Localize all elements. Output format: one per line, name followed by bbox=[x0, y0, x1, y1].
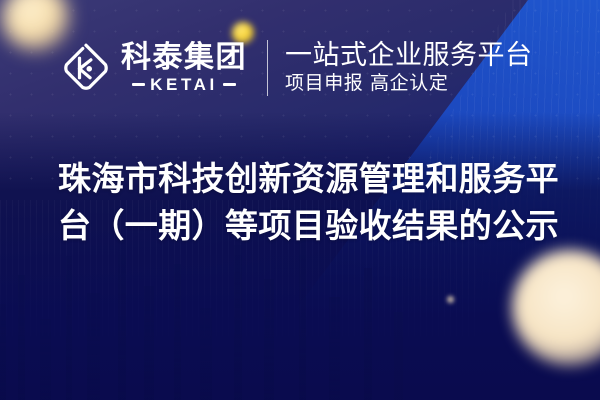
promo-banner: 科泰集团 KETAI 一站式企业服务平台 项目申报 高企认定 珠海市科技创新资源… bbox=[0, 0, 600, 400]
small-glow-dot bbox=[447, 296, 454, 303]
tagline-main: 一站式企业服务平台 bbox=[285, 42, 533, 70]
tagline-block: 一站式企业服务平台 项目申报 高企认定 bbox=[285, 42, 533, 94]
brand-logo[interactable]: 科泰集团 KETAI bbox=[60, 42, 247, 94]
logo-dash-right-icon bbox=[223, 83, 236, 86]
header-divider bbox=[267, 40, 268, 96]
logo-wordmark: 科泰集团 KETAI bbox=[121, 43, 247, 93]
tagline-sub: 项目申报 高企认定 bbox=[285, 73, 533, 94]
page-title: 珠海市科技创新资源管理和服务平台（一期）等项目验收结果的公示 bbox=[58, 156, 564, 250]
logo-dash-left-icon bbox=[132, 83, 145, 86]
ketai-kt-diamond-logo-icon bbox=[60, 42, 112, 94]
logo-chinese-name: 科泰集团 bbox=[121, 43, 247, 74]
logo-english-name: KETAI bbox=[150, 76, 218, 93]
logo-english-row: KETAI bbox=[132, 76, 236, 93]
banner-header: 科泰集团 KETAI 一站式企业服务平台 项目申报 高企认定 bbox=[60, 40, 533, 96]
